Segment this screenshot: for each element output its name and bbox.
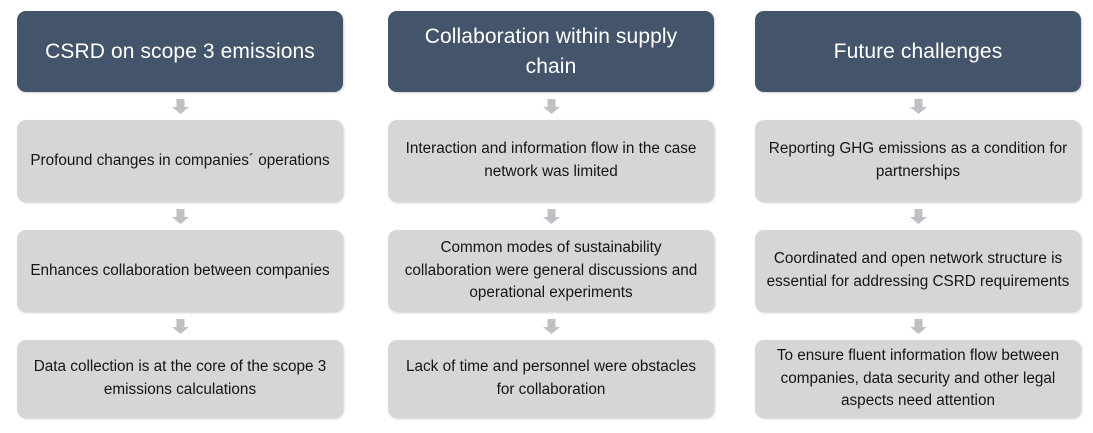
- step-box[interactable]: To ensure fluent information flow betwee…: [755, 340, 1081, 418]
- step-label: Data collection is at the core of the sc…: [27, 356, 333, 402]
- column-header-label: Future challenges: [765, 37, 1071, 67]
- step-box[interactable]: Profound changes in companies´ operation…: [17, 120, 343, 202]
- down-arrow-icon: [172, 319, 189, 334]
- step-label: Lack of time and personnel were obstacle…: [398, 356, 704, 402]
- column-header-box[interactable]: CSRD on scope 3 emissions: [17, 11, 343, 92]
- down-arrow-icon: [910, 209, 927, 224]
- down-arrow-icon: [543, 99, 560, 114]
- diagram-canvas: CSRD on scope 3 emissions Profound chang…: [0, 0, 1093, 433]
- down-arrow-icon: [543, 209, 560, 224]
- step-label: Enhances collaboration between companies: [27, 260, 333, 283]
- step-label: Profound changes in companies´ operation…: [27, 150, 333, 173]
- step-label: Reporting GHG emissions as a condition f…: [765, 138, 1071, 184]
- step-label: Coordinated and open network structure i…: [765, 248, 1071, 294]
- step-box[interactable]: Lack of time and personnel were obstacle…: [388, 340, 714, 418]
- column-header-box[interactable]: Collaboration within supply chain: [388, 11, 714, 92]
- diagram-column-collaboration-supply-chain: Collaboration within supply chain Intera…: [388, 0, 714, 433]
- down-arrow-icon: [543, 319, 560, 334]
- step-box[interactable]: Enhances collaboration between companies: [17, 230, 343, 312]
- step-box[interactable]: Coordinated and open network structure i…: [755, 230, 1081, 312]
- down-arrow-icon: [910, 319, 927, 334]
- step-box[interactable]: Reporting GHG emissions as a condition f…: [755, 120, 1081, 202]
- down-arrow-icon: [172, 209, 189, 224]
- step-box[interactable]: Data collection is at the core of the sc…: [17, 340, 343, 418]
- column-header-box[interactable]: Future challenges: [755, 11, 1081, 92]
- step-box[interactable]: Interaction and information flow in the …: [388, 120, 714, 202]
- column-header-label: CSRD on scope 3 emissions: [27, 37, 333, 67]
- step-box[interactable]: Common modes of sustainability collabora…: [388, 230, 714, 312]
- step-label: To ensure fluent information flow betwee…: [765, 345, 1071, 414]
- diagram-column-future-challenges: Future challenges Reporting GHG emission…: [755, 0, 1081, 433]
- diagram-column-csrd-scope-3: CSRD on scope 3 emissions Profound chang…: [17, 0, 343, 433]
- step-label: Interaction and information flow in the …: [398, 138, 704, 184]
- step-label: Common modes of sustainability collabora…: [398, 237, 704, 306]
- column-header-label: Collaboration within supply chain: [398, 22, 704, 82]
- down-arrow-icon: [910, 99, 927, 114]
- down-arrow-icon: [172, 99, 189, 114]
